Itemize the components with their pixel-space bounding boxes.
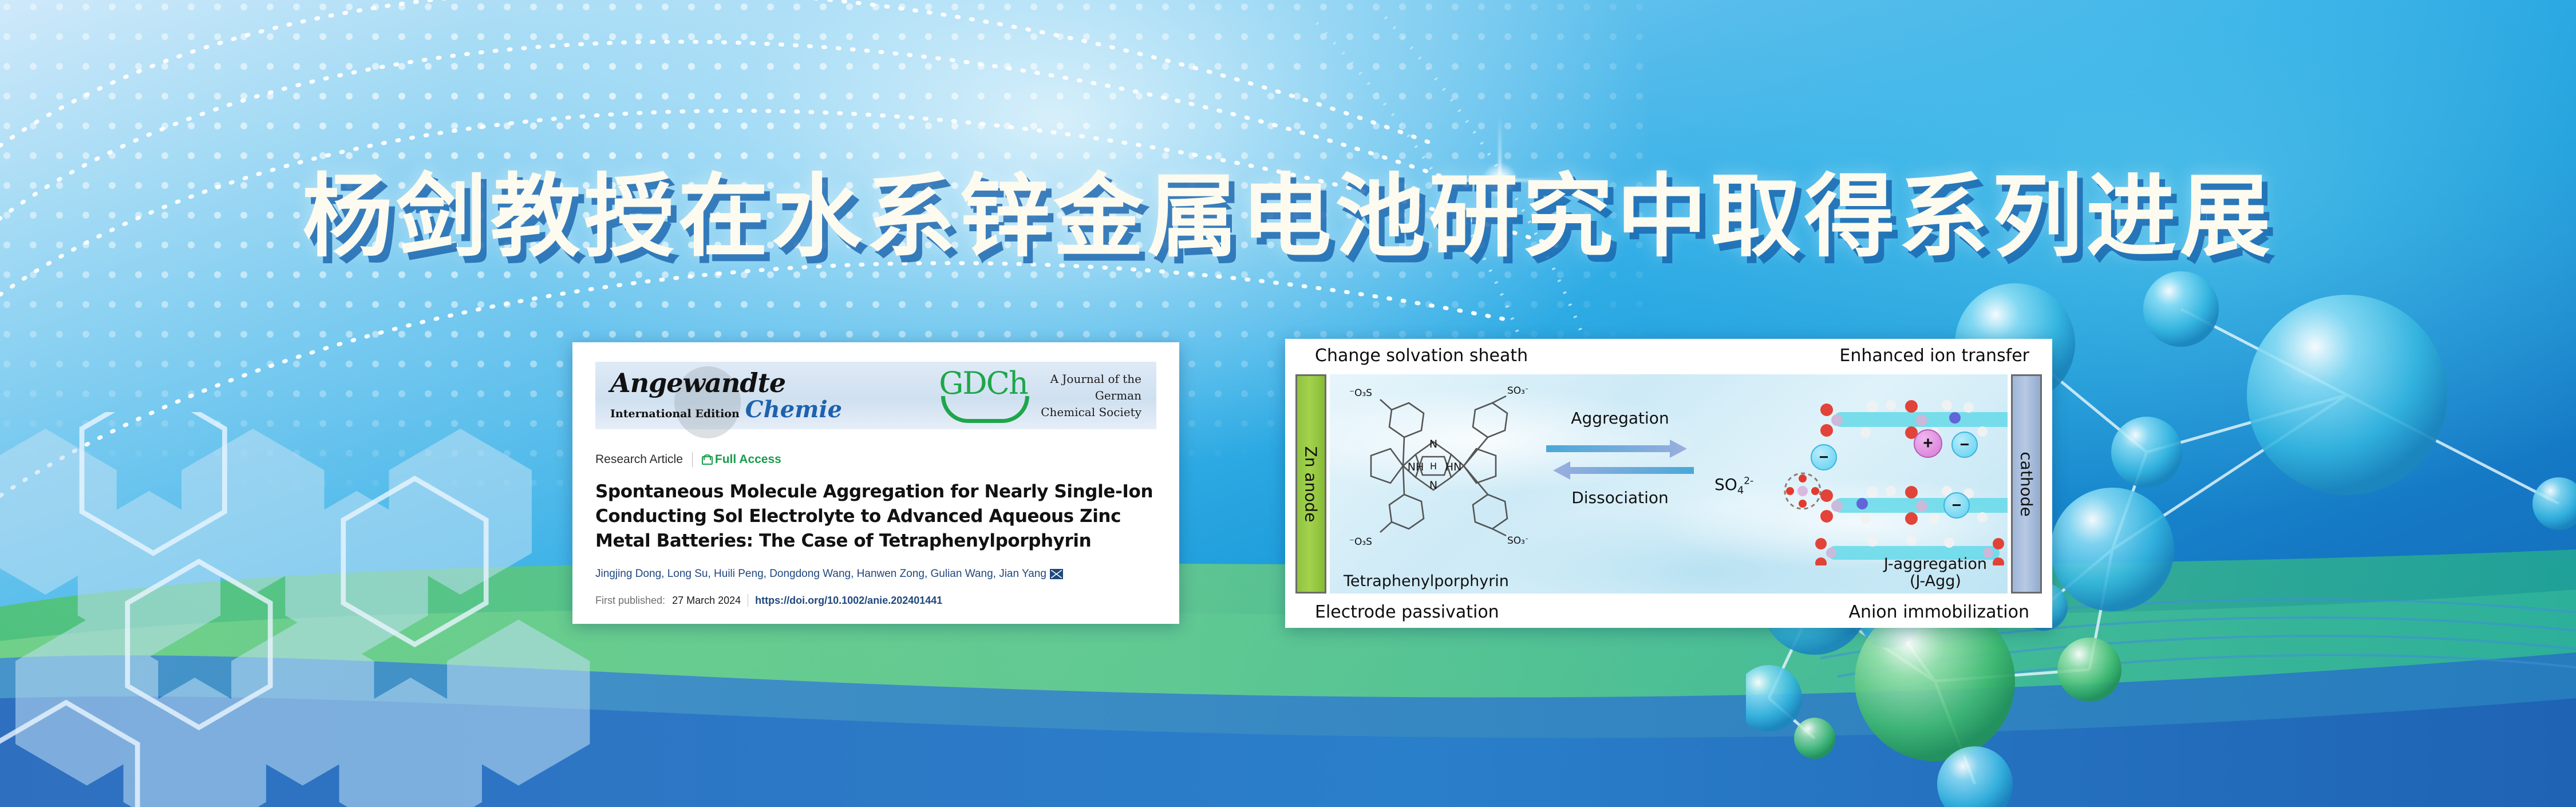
- gdch-wordmark: GDCh: [939, 368, 1025, 399]
- caption-enhanced-ion-transfer: Enhanced ion transfer: [1839, 346, 2029, 366]
- core-n-top: N: [1429, 438, 1437, 450]
- corresponding-author-email-icon[interactable]: [1050, 569, 1063, 579]
- gdch-bowl-shape: [941, 396, 1029, 423]
- equilibrium-arrows: Aggregation Dissociati: [1543, 412, 1697, 498]
- core-hn-right: HN: [1445, 461, 1462, 473]
- j-aggregation-line2: (J-Agg): [1884, 573, 1987, 590]
- journal-name-line2: Chemie: [745, 398, 842, 421]
- author-names: Jingjing Dong, Long Su, Huili Peng, Dong…: [595, 568, 1046, 580]
- article-type-label: Research Article: [595, 453, 683, 466]
- graphical-abstract-figure[interactable]: Change solvation sheath Enhanced ion tra…: [1285, 339, 2052, 628]
- figure-body: Zn anode: [1295, 372, 2042, 596]
- doi-link[interactable]: https://doi.org/10.1002/anie.202401441: [755, 595, 942, 607]
- sulfonate-bottom-left: ⁻O₃S: [1349, 536, 1372, 548]
- journal-article-card[interactable]: Angewandte International Edition Chemie …: [572, 342, 1179, 624]
- access-label: Full Access: [715, 453, 781, 466]
- pub-divider: [748, 594, 748, 607]
- caption-electrode-passivation: Electrode passivation: [1315, 602, 1499, 622]
- figure-bottom-captions: Electrode passivation Anion immobilizati…: [1285, 596, 2052, 628]
- published-date: 27 March 2024: [672, 595, 741, 607]
- core-n-bottom: N: [1429, 479, 1437, 492]
- zn-anode-label: Zn anode: [1302, 446, 1321, 522]
- j-aggregate-molecules: [1811, 394, 2008, 565]
- aggregation-label: Aggregation: [1543, 409, 1697, 428]
- cation-charge-badge: +: [1914, 429, 1942, 458]
- sulfonate-top-right: SO₃⁻: [1507, 385, 1528, 397]
- access-badge: Full Access: [702, 453, 781, 466]
- society-tagline: A Journal of the German Chemical Society: [1041, 371, 1141, 421]
- journal-name-line1: Angewandte: [610, 370, 842, 396]
- core-nh-left: NH: [1408, 461, 1424, 473]
- page-title: 杨剑教授在水系锌金属电池研究中取得系列进展: [0, 172, 2576, 262]
- meta-divider: [692, 452, 693, 467]
- article-meta-row: Research Article Full Access: [595, 452, 1156, 467]
- anion-charge-badge-1: −: [1951, 432, 1978, 458]
- electrolyte-canvas: N N NH HN H ⁻O₃S SO₃⁻ ⁻O₃S SO₃⁻ Tetraphe…: [1330, 374, 2008, 594]
- angewandte-logo: Angewandte International Edition Chemie: [610, 370, 842, 421]
- gdch-logo-group: GDCh A Journal of the German Chemical So…: [939, 368, 1141, 423]
- figure-top-captions: Change solvation sheath Enhanced ion tra…: [1285, 339, 2052, 372]
- published-label: First published:: [595, 595, 665, 607]
- zn-anode-electrode: Zn anode: [1295, 374, 1326, 594]
- j-aggregation-label: J-aggregation (J-Agg): [1884, 556, 1987, 590]
- cathode-label: cathode: [2017, 452, 2036, 516]
- journal-masthead: Angewandte International Edition Chemie …: [595, 362, 1156, 429]
- tetraphenylporphyrin-structure-icon: N N NH HN H ⁻O₃S SO₃⁻ ⁻O₃S SO₃⁻: [1339, 380, 1528, 552]
- anion-charge-badge-2: −: [1811, 444, 1837, 470]
- open-lock-icon: [702, 454, 710, 465]
- sulfonate-bottom-right: SO₃⁻: [1507, 535, 1528, 547]
- publication-info: First published: 27 March 2024 https://d…: [595, 594, 1156, 607]
- caption-anion-immobilization: Anion immobilization: [1848, 602, 2029, 622]
- sulfate-ion-label: SO42-: [1714, 475, 1753, 497]
- cathode-electrode: cathode: [2011, 374, 2042, 594]
- anion-charge-badge-3: −: [1943, 492, 1970, 519]
- author-list: Jingjing Dong, Long Su, Huili Peng, Dong…: [595, 568, 1156, 580]
- dissociation-label: Dissociation: [1543, 488, 1697, 507]
- j-aggregation-line1: J-aggregation: [1884, 556, 1987, 573]
- gdch-logo: GDCh: [939, 368, 1025, 423]
- caption-change-solvation-sheath: Change solvation sheath: [1315, 346, 1528, 366]
- journal-edition: International Edition: [610, 408, 740, 420]
- article-title[interactable]: Spontaneous Molecule Aggregation for Nea…: [595, 480, 1156, 553]
- banner-root: 杨剑教授在水系锌金属电池研究中取得系列进展 Angewandte Interna…: [0, 0, 2576, 807]
- sulfonate-top-left: ⁻O₃S: [1349, 387, 1372, 399]
- tetraphenylporphyrin-label: Tetraphenylporphyrin: [1344, 572, 1509, 590]
- core-h: H: [1430, 461, 1437, 472]
